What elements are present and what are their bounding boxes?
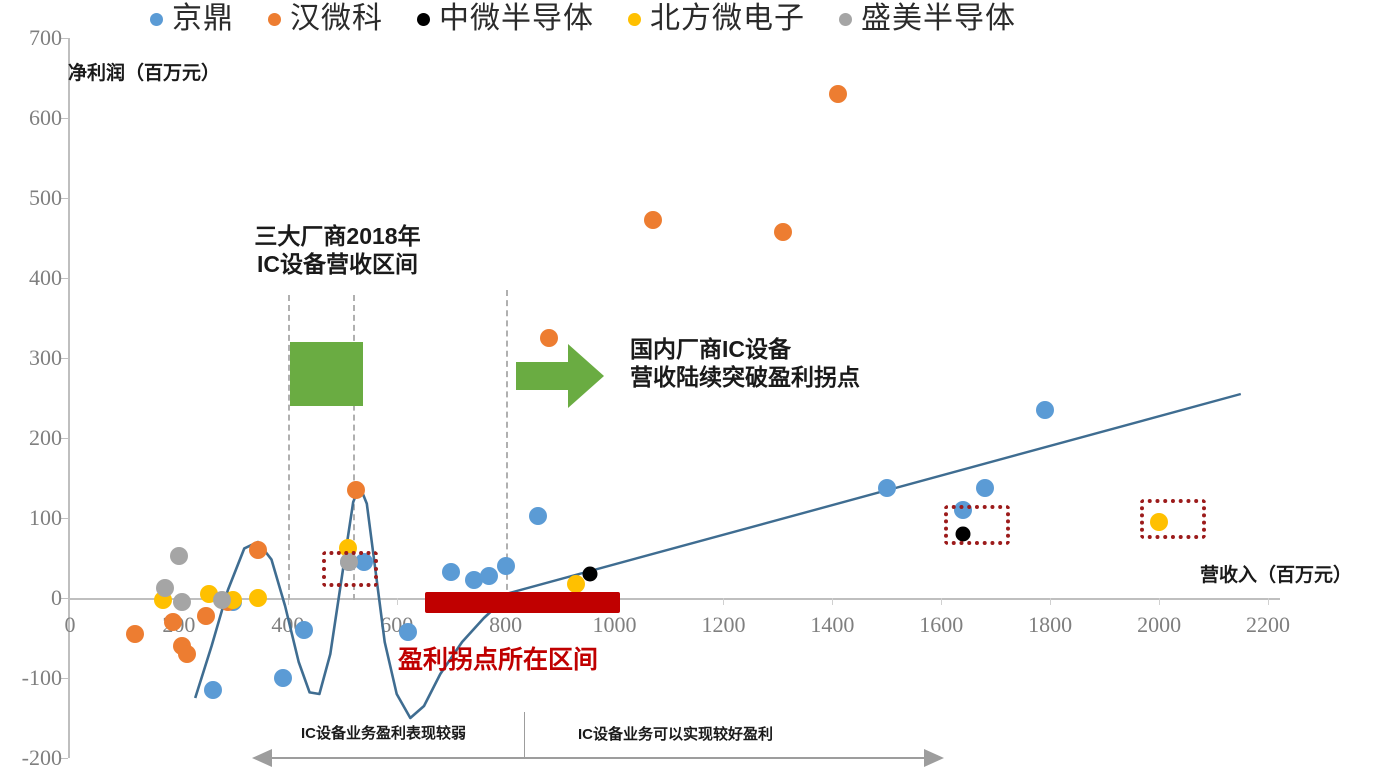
bottom-label-strong: IC设备业务可以实现较好盈利 [578, 726, 773, 744]
profit-pivot-band [425, 592, 620, 613]
data-point-jingding [878, 479, 896, 497]
linear-trend-line [506, 394, 1241, 594]
y-axis-title: 净利润（百万元） [68, 58, 220, 85]
data-point-jingding [529, 507, 547, 525]
data-point-hanweike [347, 481, 365, 499]
bottom-axis-bar [268, 757, 928, 759]
callout-breakthrough: 国内厂商IC设备 营收陆续突破盈利拐点 [630, 335, 860, 391]
data-point-shengmei [213, 591, 231, 609]
highlight-box-zhongwei [944, 505, 1010, 545]
bottom-arrow-left-icon [252, 748, 274, 768]
x-axis-title: 营收入（百万元） [1200, 560, 1352, 587]
data-point-hanweike [197, 607, 215, 625]
data-point-jingding [274, 669, 292, 687]
highlight-box-left [322, 551, 378, 587]
data-point-jingding [295, 621, 313, 639]
data-point-shengmei [156, 579, 174, 597]
callout-revenue-band: 三大厂商2018年 IC设备营收区间 [225, 222, 450, 278]
data-point-beifang [249, 589, 267, 607]
data-point-jingding [204, 681, 222, 699]
data-point-zhongwei [583, 567, 598, 582]
data-point-hanweike [774, 223, 792, 241]
chart-root: 京鼎 汉微科 中微半导体 北方微电子 盛美半导体 -200-1000100200… [0, 0, 1400, 775]
breakthrough-arrow-icon [516, 336, 606, 416]
data-point-shengmei [170, 547, 188, 565]
data-point-hanweike [126, 625, 144, 643]
data-point-hanweike [644, 211, 662, 229]
data-point-hanweike [178, 645, 196, 663]
data-point-jingding [497, 557, 515, 575]
pivot-band-label: 盈利拐点所在区间 [398, 645, 598, 676]
data-point-jingding [399, 623, 417, 641]
highlight-box-beifang [1140, 499, 1206, 539]
data-point-beifang [567, 575, 585, 593]
data-point-hanweike [164, 613, 182, 631]
data-point-jingding [1036, 401, 1054, 419]
bottom-section-divider [524, 712, 525, 757]
bottom-label-weak: IC设备业务盈利表现较弱 [301, 725, 466, 743]
data-point-jingding [442, 563, 460, 581]
data-point-shengmei [173, 593, 191, 611]
data-point-jingding [976, 479, 994, 497]
data-point-hanweike [829, 85, 847, 103]
revenue-band-rect [290, 342, 363, 406]
data-point-jingding [480, 567, 498, 585]
data-point-hanweike [249, 541, 267, 559]
bottom-arrow-right-icon [922, 748, 944, 768]
